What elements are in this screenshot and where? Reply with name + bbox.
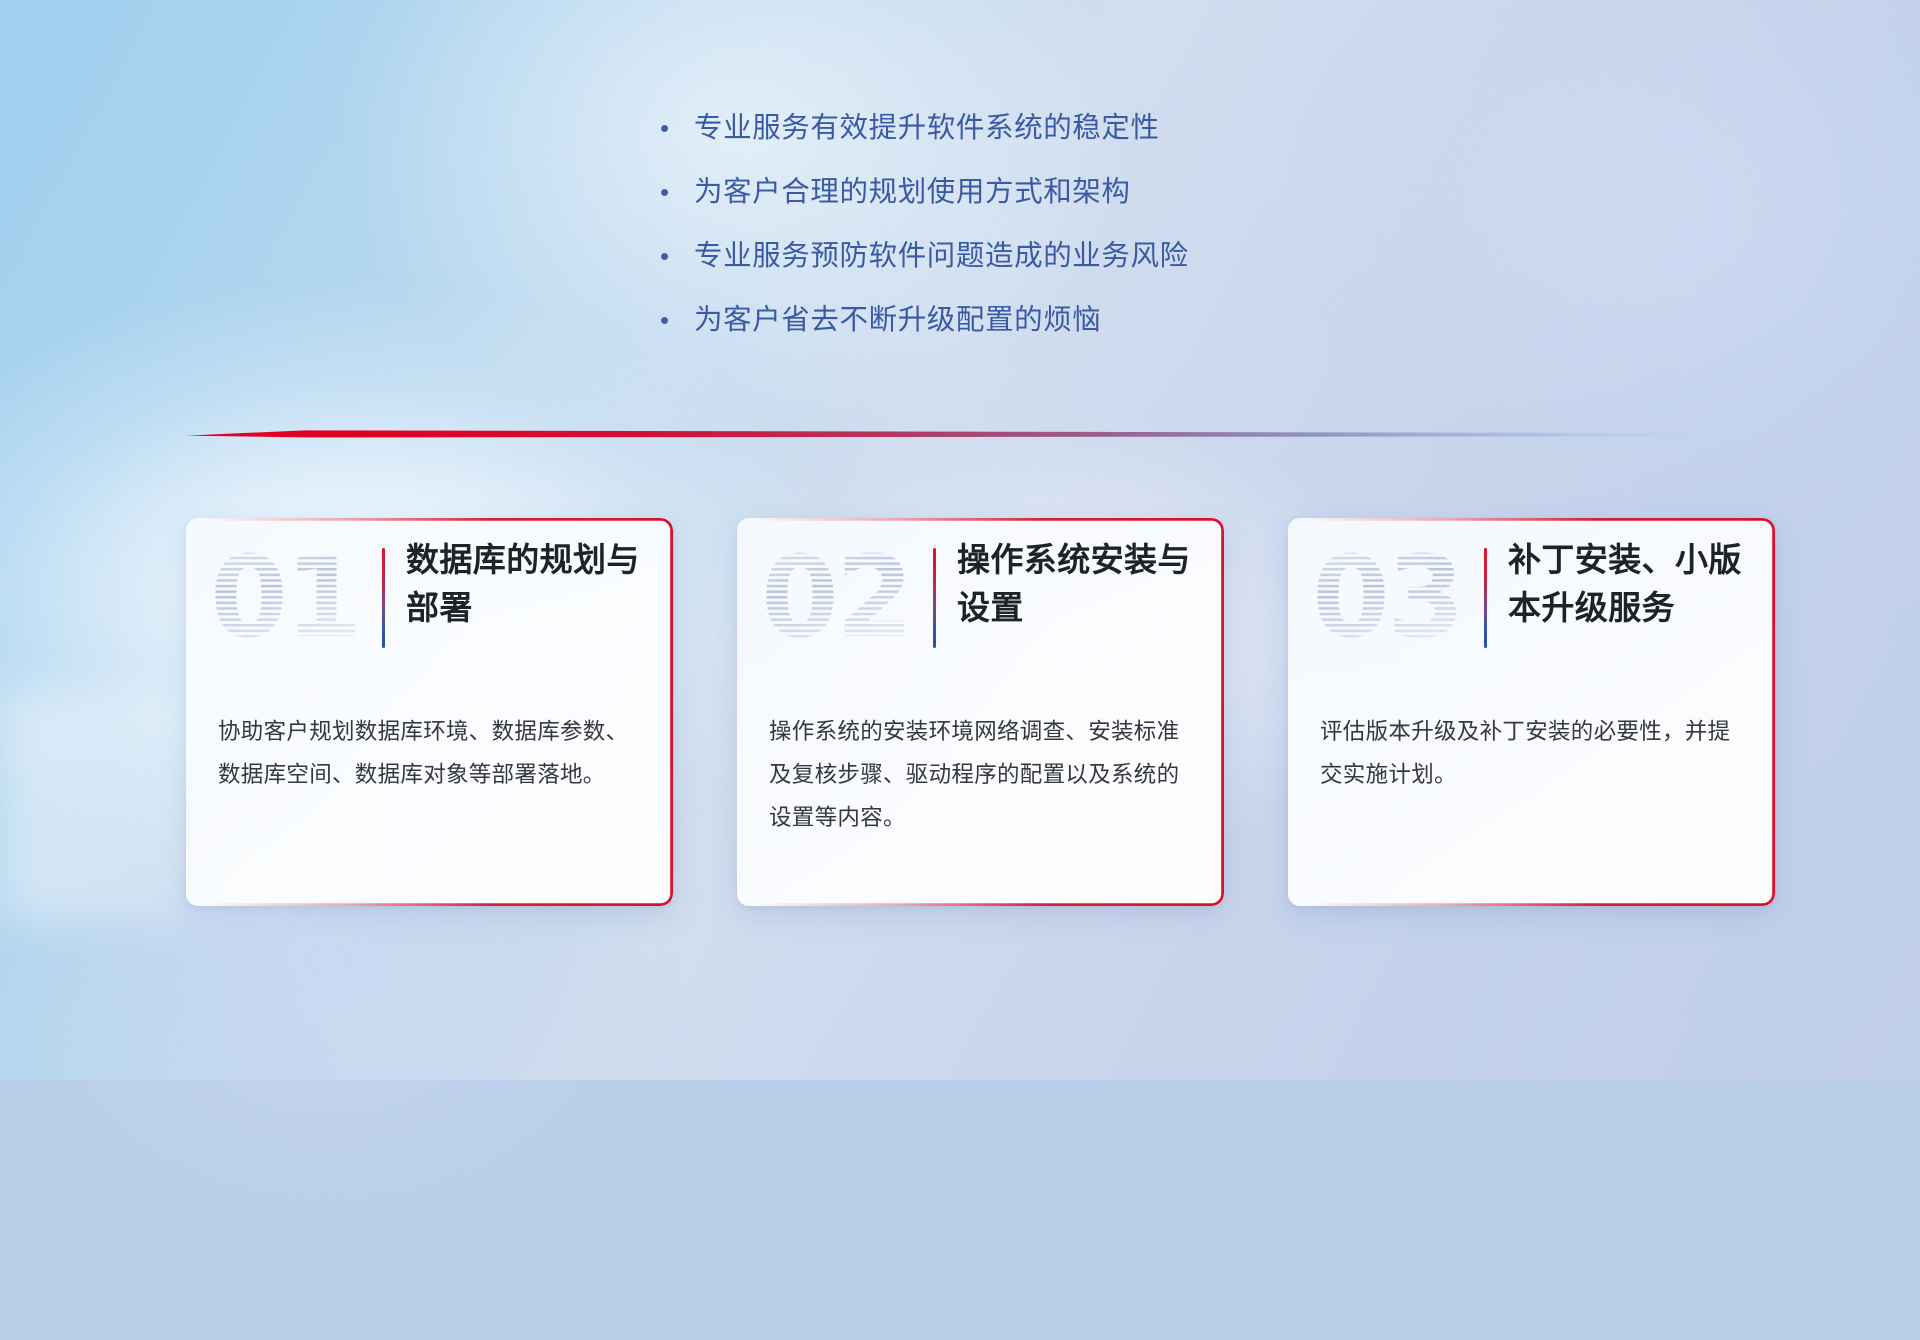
service-card[interactable]: 02 操作系统安装与设置 操作系统的安装环境网络调查、安装标准及复核步骤、驱动程… bbox=[737, 518, 1224, 906]
card-title-rule bbox=[1484, 548, 1487, 648]
list-item: • 专业服务预防软件问题造成的业务风险 bbox=[660, 236, 1480, 300]
card-number-graphic: 03 bbox=[1310, 540, 1460, 658]
svg-text:02: 02 bbox=[761, 540, 909, 658]
service-card-row: 01 数据库的规划与部署 协助客户规划数据库环境、数据库参数、数据库空间、数据库… bbox=[186, 518, 1786, 908]
list-item: • 专业服务有效提升软件系统的稳定性 bbox=[660, 108, 1480, 172]
bullet-text: 为客户省去不断升级配置的烦恼 bbox=[694, 300, 1101, 340]
card-description: 评估版本升级及补丁安装的必要性，并提交实施计划。 bbox=[1320, 710, 1749, 796]
card-header: 03 补丁安装、小版本升级服务 bbox=[1288, 518, 1775, 678]
feature-bullet-list: • 专业服务有效提升软件系统的稳定性 • 为客户合理的规划使用方式和架构 • 专… bbox=[660, 108, 1480, 364]
card-number-graphic: 01 bbox=[208, 540, 358, 658]
service-card[interactable]: 01 数据库的规划与部署 协助客户规划数据库环境、数据库参数、数据库空间、数据库… bbox=[186, 518, 673, 906]
divider-wedge-shape bbox=[186, 424, 1726, 446]
card-header: 01 数据库的规划与部署 bbox=[186, 518, 673, 678]
card-description: 操作系统的安装环境网络调查、安装标准及复核步骤、驱动程序的配置以及系统的设置等内… bbox=[769, 710, 1198, 839]
bullet-text: 专业服务预防软件问题造成的业务风险 bbox=[694, 236, 1189, 276]
bullet-text: 为客户合理的规划使用方式和架构 bbox=[694, 172, 1131, 212]
bullet-marker-icon: • bbox=[660, 108, 694, 148]
striped-number-01-icon: 01 bbox=[208, 540, 358, 658]
card-title-rule bbox=[933, 548, 936, 648]
card-title: 操作系统安装与设置 bbox=[957, 536, 1210, 632]
card-number-graphic: 02 bbox=[759, 540, 909, 658]
list-item: • 为客户合理的规划使用方式和架构 bbox=[660, 172, 1480, 236]
card-header: 02 操作系统安装与设置 bbox=[737, 518, 1224, 678]
striped-number-02-icon: 02 bbox=[759, 540, 909, 658]
card-description: 协助客户规划数据库环境、数据库参数、数据库空间、数据库对象等部署落地。 bbox=[218, 710, 647, 796]
svg-text:03: 03 bbox=[1312, 540, 1460, 658]
striped-number-03-icon: 03 bbox=[1310, 540, 1460, 658]
section-divider bbox=[186, 424, 1726, 446]
bullet-marker-icon: • bbox=[660, 300, 694, 340]
bullet-marker-icon: • bbox=[660, 236, 694, 276]
bullet-text: 专业服务有效提升软件系统的稳定性 bbox=[694, 108, 1160, 148]
list-item: • 为客户省去不断升级配置的烦恼 bbox=[660, 300, 1480, 364]
svg-text:01: 01 bbox=[210, 540, 358, 658]
card-title: 补丁安装、小版本升级服务 bbox=[1508, 536, 1761, 632]
card-title-rule bbox=[382, 548, 385, 648]
service-card[interactable]: 03 补丁安装、小版本升级服务 评估版本升级及补丁安装的必要性，并提交实施计划。 bbox=[1288, 518, 1775, 906]
card-title: 数据库的规划与部署 bbox=[406, 536, 659, 632]
bullet-marker-icon: • bbox=[660, 172, 694, 212]
